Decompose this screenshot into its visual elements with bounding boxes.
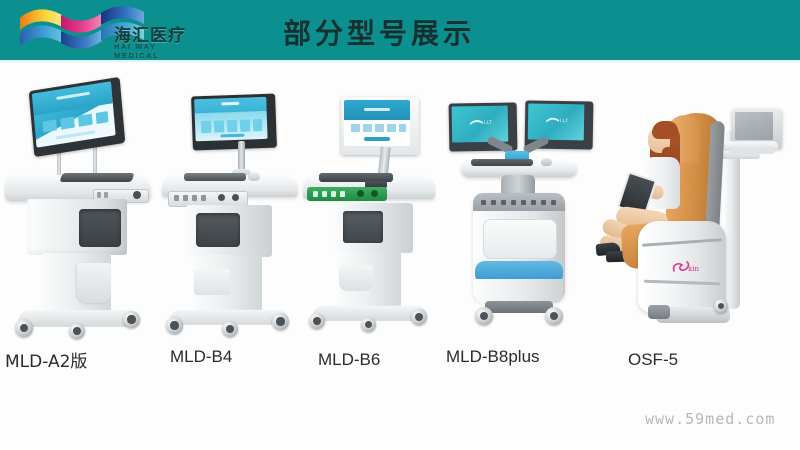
chair-brand-logo: kin: [670, 259, 704, 275]
device-screen-mld-b4: [191, 94, 277, 151]
product-image-mld-b6[interactable]: [303, 89, 438, 337]
product-image-mld-b8plus[interactable]: LLT LLT: [445, 95, 595, 335]
company-logo: 海汇医疗 HAI WAY MEDICAL: [18, 4, 198, 58]
site-watermark: www.59med.com: [645, 410, 775, 428]
pink-script-logo-icon: kin: [670, 259, 704, 275]
header-divider: [0, 60, 800, 63]
product-image-osf-5[interactable]: kin: [596, 91, 776, 335]
screen-logo-icon: LLT: [546, 116, 568, 123]
svg-text:kin: kin: [688, 265, 699, 273]
device-screen-mld-a2: [29, 77, 126, 157]
product-label-mld-b4: MLD-B4: [170, 347, 232, 367]
svg-text:LLT: LLT: [484, 120, 492, 125]
product-image-mld-b4[interactable]: [160, 87, 300, 337]
product-gallery: LLT LLT: [0, 64, 800, 339]
product-label-mld-a2: MLD-A2版: [5, 347, 87, 372]
logo-name-en: HAI WAY MEDICAL: [114, 42, 198, 60]
blue-drawer-band: [475, 261, 563, 281]
page-title: 部分型号展示: [283, 12, 475, 52]
screen-logo-icon: LLT: [470, 118, 492, 125]
product-label-mld-b6: MLD-B6: [318, 350, 380, 370]
slide-canvas: 海汇医疗 HAI WAY MEDICAL 部分型号展示: [0, 0, 800, 450]
product-label-osf-5: OSF-5: [628, 350, 678, 370]
slide-header: 海汇医疗 HAI WAY MEDICAL 部分型号展示: [0, 0, 800, 60]
svg-text:LLT: LLT: [560, 118, 568, 123]
product-label-mld-b8plus: MLD-B8plus: [446, 347, 540, 367]
product-image-mld-a2[interactable]: [5, 79, 155, 337]
